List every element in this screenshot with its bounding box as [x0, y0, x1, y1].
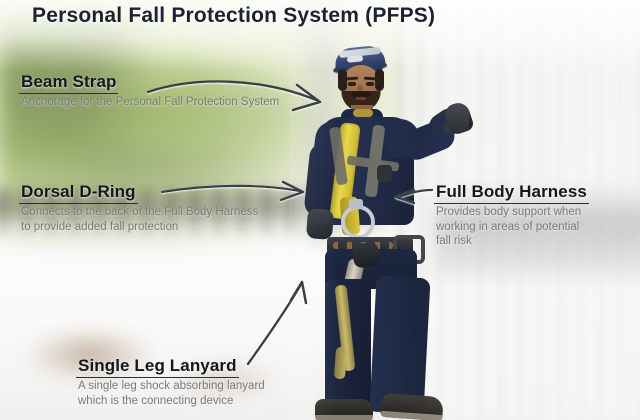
callout-beam-strap-description: Anchorage for the Personal Fall Protecti…	[21, 95, 279, 109]
callout-single-leg-lanyard: Single Leg Lanyard A single leg shock ab…	[76, 356, 265, 408]
callout-full-body-harness: Full Body Harness Provides body support …	[434, 182, 589, 248]
callout-full-body-harness-description: Provides body support when working in ar…	[436, 205, 589, 248]
callout-beam-strap-heading: Beam Strap	[19, 72, 118, 94]
callout-single-leg-lanyard-heading: Single Leg Lanyard	[76, 356, 239, 378]
page-title: Personal Fall Protection System (PFPS)	[32, 4, 435, 28]
callout-dorsal-d-ring-heading: Dorsal D-Ring	[19, 182, 138, 204]
callout-dorsal-d-ring-line-1: Connects to the back of the Full Body Ha…	[21, 205, 258, 219]
infographic-slide: Personal Fall Protection System (PFPS) B…	[0, 0, 640, 420]
callout-full-body-harness-line-2: working in areas of potential	[436, 220, 589, 234]
callout-single-leg-lanyard-line-2: which is the connecting device	[78, 394, 265, 408]
callout-full-body-harness-line-3: fall risk	[436, 234, 589, 248]
callout-full-body-harness-heading: Full Body Harness	[434, 182, 589, 204]
callout-beam-strap: Beam Strap Anchorage for the Personal Fa…	[19, 72, 279, 110]
callout-full-body-harness-line-1: Provides body support when	[436, 205, 589, 219]
callout-single-leg-lanyard-description: A single leg shock absorbing lanyard whi…	[78, 379, 265, 408]
callout-dorsal-d-ring-description: Connects to the back of the Full Body Ha…	[21, 205, 258, 234]
callout-beam-strap-line-1: Anchorage for the Personal Fall Protecti…	[21, 95, 279, 109]
callout-dorsal-d-ring: Dorsal D-Ring Connects to the back of th…	[19, 182, 258, 234]
callout-dorsal-d-ring-line-2: to provide added fall protection	[21, 220, 258, 234]
callout-single-leg-lanyard-line-1: A single leg shock absorbing lanyard	[78, 379, 265, 393]
